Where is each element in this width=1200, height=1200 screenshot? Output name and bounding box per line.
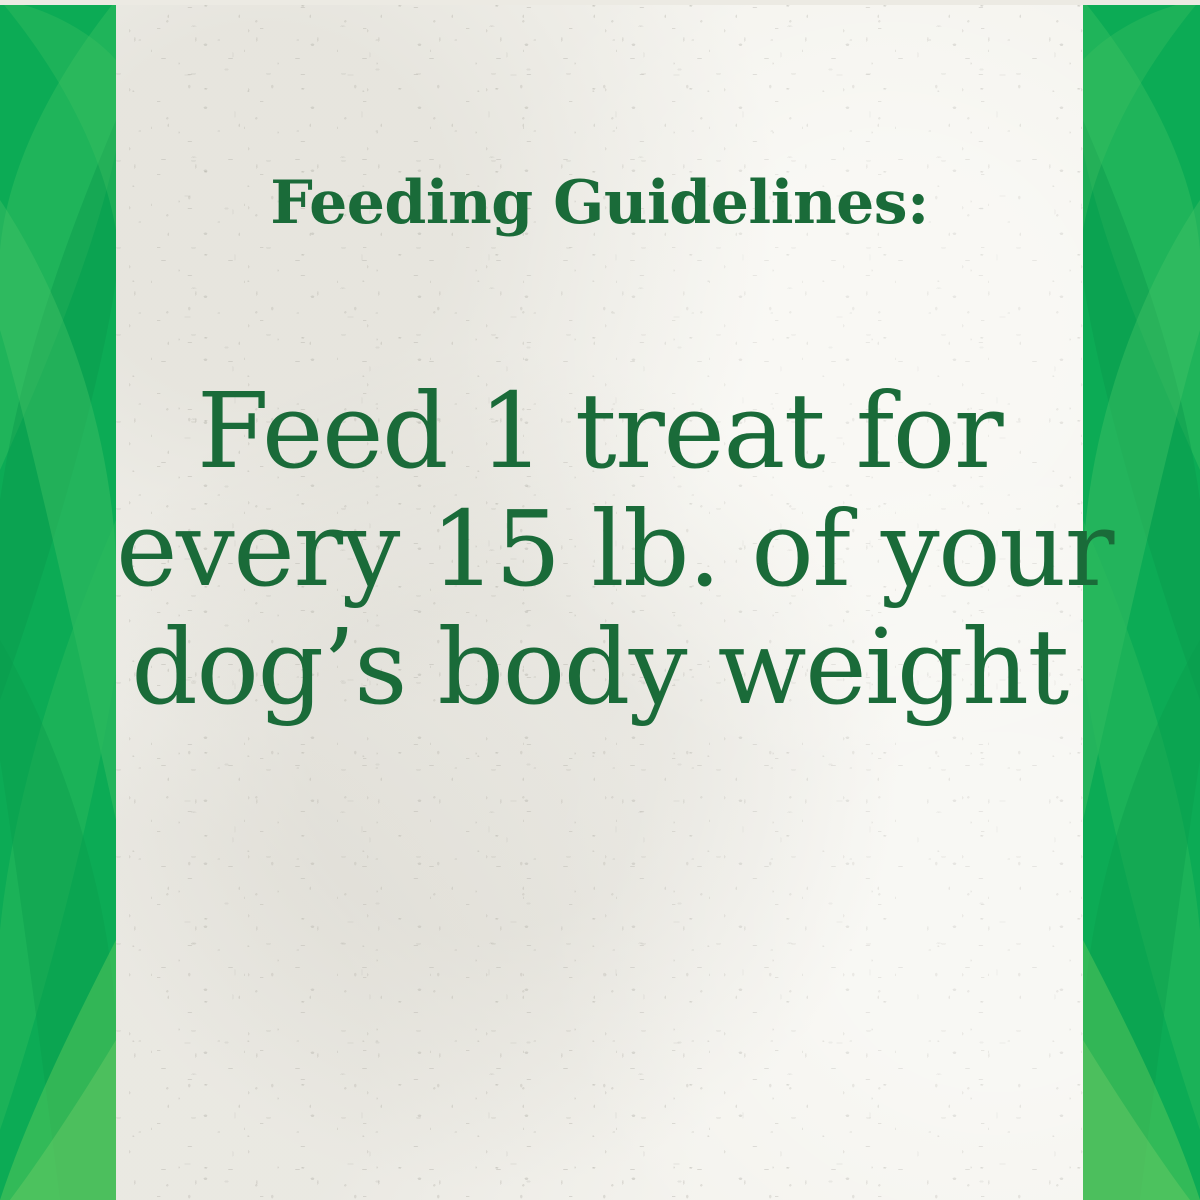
instruction-line-1: Feed 1 treat for [116,372,1083,490]
instruction-line-3: dog’s body weight [116,608,1083,726]
feeding-guidelines-panel: Feeding Guidelines: Feed 1 treat for eve… [0,0,1200,1200]
left-green-band [0,0,116,1200]
feeding-instructions-text: Feed 1 treat for every 15 lb. of your do… [116,372,1083,726]
top-edge-strip [0,0,1200,5]
feeding-guidelines-heading: Feeding Guidelines: [116,173,1083,233]
panel-content: Feeding Guidelines: Feed 1 treat for eve… [116,0,1083,1200]
leaf-pattern-left-icon [0,0,116,1200]
instruction-line-2: every 15 lb. of your [116,490,1083,608]
